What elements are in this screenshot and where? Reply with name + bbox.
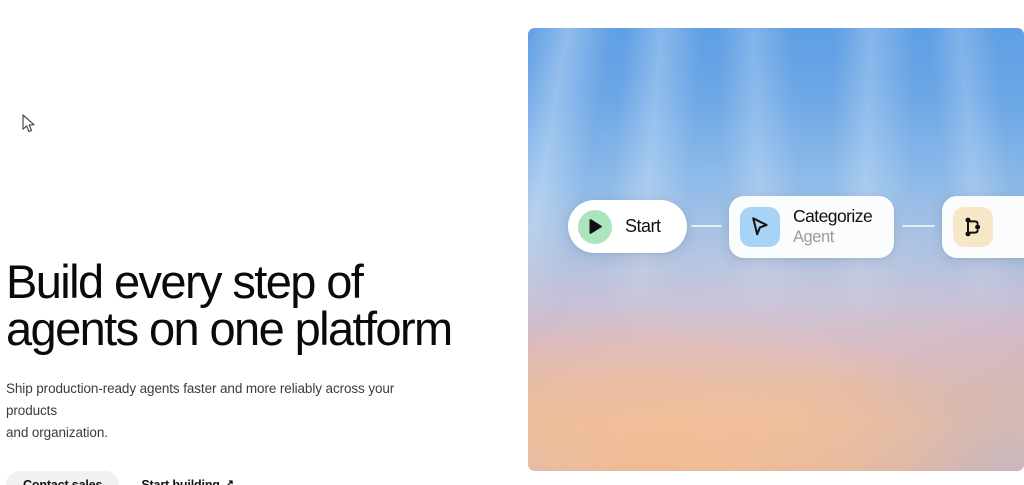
mouse-arrow-cursor [22,114,36,134]
flow-node-categorize-title: Categorize [793,207,872,227]
connector-categorize-to-branch [902,225,935,227]
flow-node-branch[interactable] [942,196,1024,258]
page-root: Build every step of agents on one platfo… [0,0,1024,485]
play-icon [578,210,612,244]
start-building-link[interactable]: Start building ↗ [141,478,234,485]
flow-node-categorize[interactable]: Categorize Agent [729,196,894,258]
start-building-label: Start building [141,478,219,485]
arrow-up-right-icon: ↗ [225,479,234,485]
cta-row: Contact sales Start building ↗ [6,471,506,485]
agent-workflow-diagram: Start Categorize Agent [528,28,1024,471]
flow-node-categorize-subtitle: Agent [793,228,872,246]
cursor-pointer-icon [740,207,780,247]
flow-node-start-label: Start [625,216,661,237]
hero-subheadline: Ship production-ready agents faster and … [6,378,436,444]
page-title: Build every step of agents on one platfo… [6,258,506,352]
git-branch-icon [953,207,993,247]
contact-sales-button[interactable]: Contact sales [6,471,119,485]
hero-copy: Build every step of agents on one platfo… [6,258,506,485]
flow-node-start[interactable]: Start [568,200,687,253]
connector-start-to-categorize [691,225,722,227]
flow-node-categorize-text: Categorize Agent [793,207,872,246]
hero-media-panel: Start Categorize Agent [528,28,1024,471]
